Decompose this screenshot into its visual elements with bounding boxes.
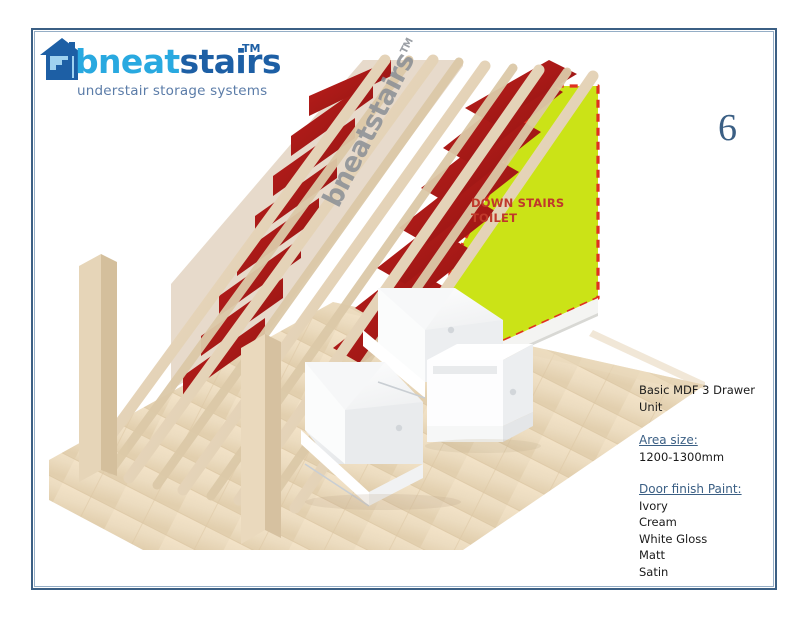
list-item: Cream — [639, 514, 779, 531]
logo-trademark-symbol: TM — [242, 42, 260, 55]
brand-logo: bneatstairs TM understair storage system… — [39, 34, 289, 112]
drawer-shadow — [305, 494, 461, 510]
door-finish-heading: Door finish Paint: — [639, 481, 779, 498]
page-border-frame: bneatstairs TM understair storage system… — [31, 28, 777, 590]
newel-post-left — [79, 254, 101, 482]
list-item: Ivory — [639, 498, 779, 515]
watermark-trademark-symbol: TM — [399, 37, 416, 56]
page-number: 6 — [718, 106, 737, 150]
toilet-label-line1: DOWN STAIRS — [471, 196, 591, 211]
door-finish-list: Ivory Cream White Gloss Matt Satin — [639, 498, 779, 581]
list-item: Matt — [639, 547, 779, 564]
toilet-zone-label: DOWN STAIRS TOILET — [471, 196, 591, 226]
area-size-value: 1200-1300mm — [639, 449, 779, 466]
list-item: Satin — [639, 564, 779, 581]
list-item: White Gloss — [639, 531, 779, 548]
logo-word-bneat: bneat — [75, 42, 180, 81]
specification-panel: Basic MDF 3 Drawer Unit Area size: 1200-… — [639, 382, 779, 596]
logo-tagline: understair storage systems — [77, 83, 267, 99]
area-size-group: Area size: 1200-1300mm — [639, 432, 779, 465]
area-size-heading: Area size: — [639, 432, 779, 449]
toilet-label-line2: TOILET — [471, 211, 591, 226]
logo-word-stairs: stairs — [180, 42, 281, 81]
door-finish-group: Door finish Paint: Ivory Cream White Glo… — [639, 481, 779, 580]
drawer-unit-right — [427, 344, 533, 442]
page-canvas: bneatstairs TM understair storage system… — [0, 0, 807, 619]
product-title: Basic MDF 3 Drawer Unit — [639, 382, 779, 415]
